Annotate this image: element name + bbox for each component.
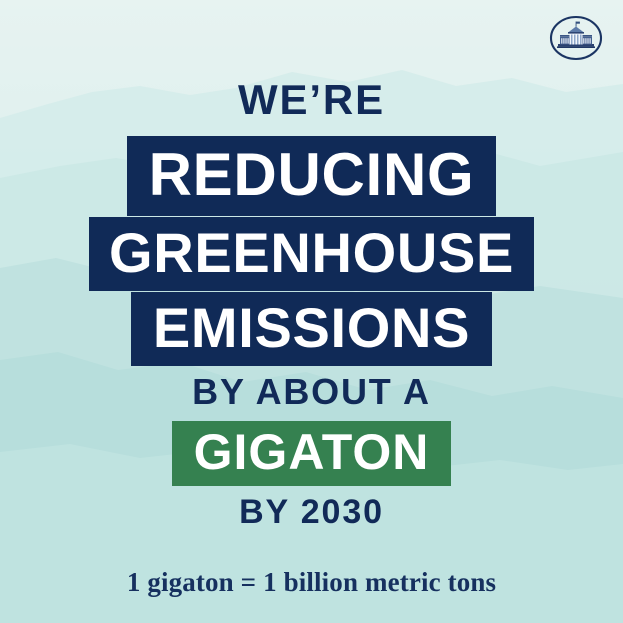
headline-line-by-about-a: BY ABOUT A [0, 374, 623, 410]
headline-line-emissions: EMISSIONS [0, 292, 623, 366]
footnote-text: 1 gigaton = 1 billion metric tons [0, 567, 623, 598]
headline-text-by-2030: BY 2030 [239, 495, 384, 529]
headline-text-by-about-a: BY ABOUT A [192, 374, 431, 410]
headline-text-gigaton: GIGATON [172, 421, 452, 486]
headline-line-by-2030: BY 2030 [0, 495, 623, 529]
climate-emissions-poster: WE’RE REDUCING GREENHOUSE EMISSIONS BY A… [0, 0, 623, 623]
headline-line-were: WE’RE [0, 79, 623, 121]
headline-text-reducing: REDUCING [127, 136, 497, 216]
headline-text-were: WE’RE [238, 79, 385, 121]
headline-line-reducing: REDUCING [0, 136, 623, 216]
headline-line-greenhouse: GREENHOUSE [0, 217, 623, 291]
headline-line-gigaton: GIGATON [0, 421, 623, 486]
headline-text-greenhouse: GREENHOUSE [89, 217, 534, 291]
headline-text-emissions: EMISSIONS [131, 292, 492, 366]
white-house-seal-icon [549, 11, 603, 65]
